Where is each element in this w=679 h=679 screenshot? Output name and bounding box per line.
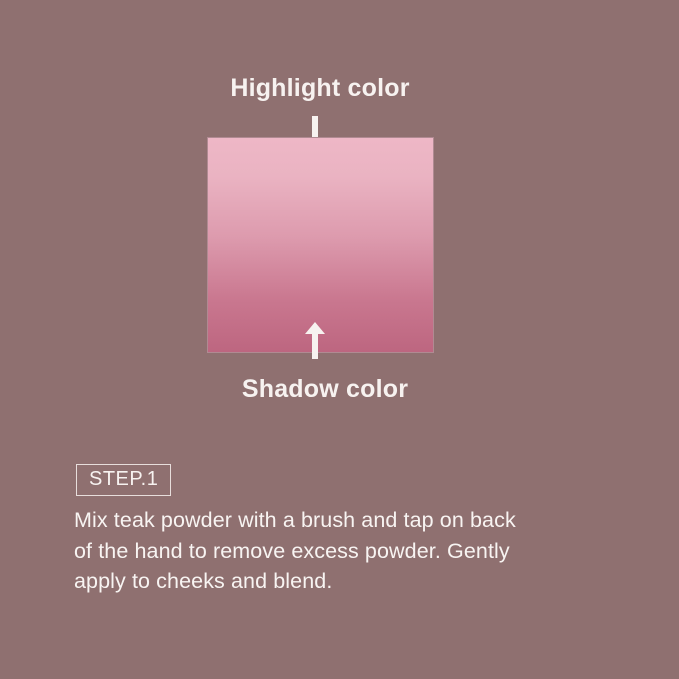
arrow-up-icon <box>304 322 326 360</box>
step-badge: STEP.1 <box>76 464 171 496</box>
instruction-line: Mix teak powder with a brush and tap on … <box>74 505 614 536</box>
instruction-line: apply to cheeks and blend. <box>74 566 614 597</box>
instruction-line: of the hand to remove excess powder. Gen… <box>74 536 614 567</box>
step-instruction-text: Mix teak powder with a brush and tap on … <box>74 505 614 597</box>
shadow-color-label: Shadow color <box>0 375 650 404</box>
blush-gradient-swatch <box>207 137 434 353</box>
highlight-color-label: Highlight color <box>0 74 640 103</box>
diagram-canvas: Highlight color Shadow color STEP.1 Mix … <box>0 0 679 679</box>
